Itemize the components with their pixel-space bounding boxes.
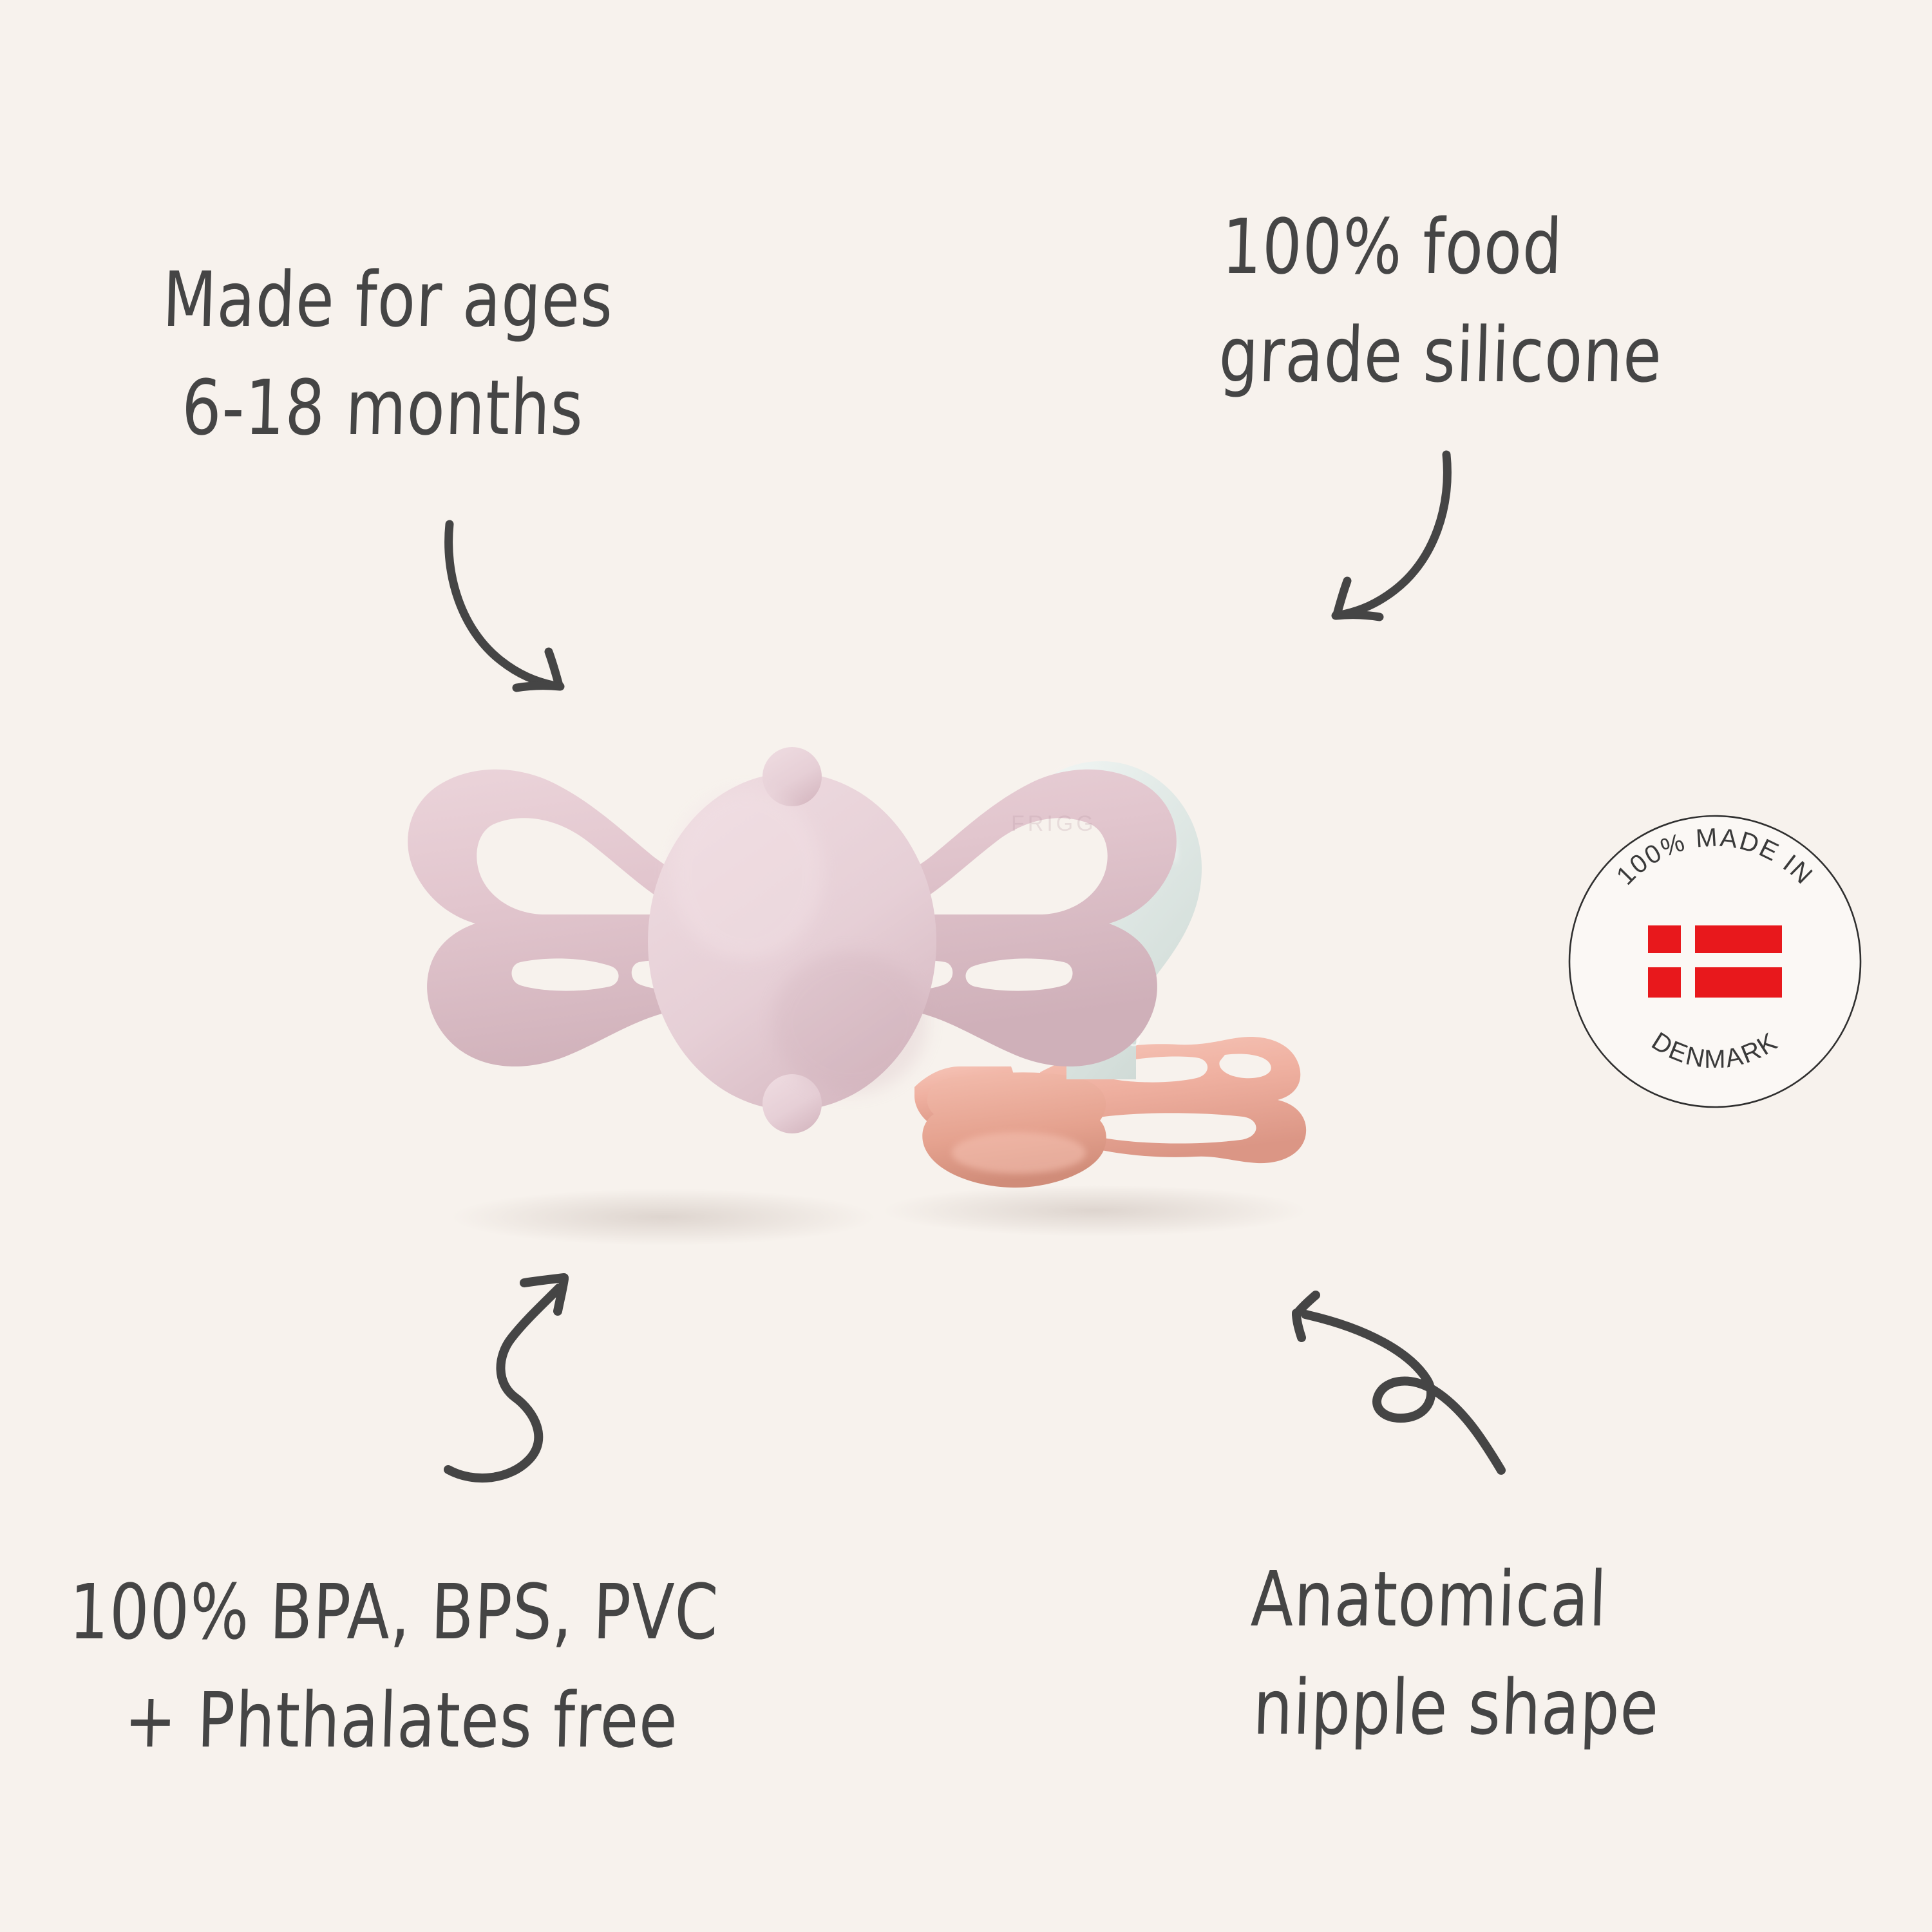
arrow-down-right-icon: [399, 515, 605, 708]
product-shadow-back: [882, 1185, 1307, 1236]
made-in-denmark-badge: 100% MADE IN DENMARK: [1566, 813, 1864, 1110]
product-shadow-front: [451, 1189, 876, 1245]
arrow-up-right-s-curve-icon: [438, 1262, 650, 1520]
annotation-bpa-free: 100% BPA, BPS, PVC + Phthalates free: [64, 1558, 720, 1774]
annotation-line: 6-18 months: [158, 354, 611, 462]
annotation-food-grade-silicone: 100% food grade silicone: [1217, 193, 1667, 409]
product-photo-pacifier-pair: 6-18 M FRIGG: [361, 702, 1584, 1236]
annotation-line: nipple shape: [1246, 1654, 1660, 1762]
annotation-line: Made for ages: [161, 246, 614, 354]
brand-emboss: FRIGG: [1011, 811, 1097, 836]
annotation-line: 100% BPA, BPS, PVC: [68, 1558, 720, 1667]
annotation-line: 100% food: [1220, 193, 1667, 301]
annotation-made-for-ages: Made for ages 6-18 months: [158, 246, 614, 462]
danish-flag-icon: [1648, 925, 1782, 998]
annotation-line: grade silicone: [1217, 301, 1663, 410]
arrow-down-left-icon: [1320, 444, 1539, 638]
annotation-line: Anatomical: [1249, 1546, 1663, 1654]
arrow-up-left-loop-icon: [1272, 1285, 1542, 1491]
svg-text:FRIGG: FRIGG: [1011, 811, 1097, 836]
annotation-anatomical-nipple: Anatomical nipple shape: [1246, 1546, 1663, 1761]
annotation-line: + Phthalates free: [64, 1667, 717, 1775]
infographic-canvas: 6-18 M FRIGG: [0, 0, 1932, 1932]
